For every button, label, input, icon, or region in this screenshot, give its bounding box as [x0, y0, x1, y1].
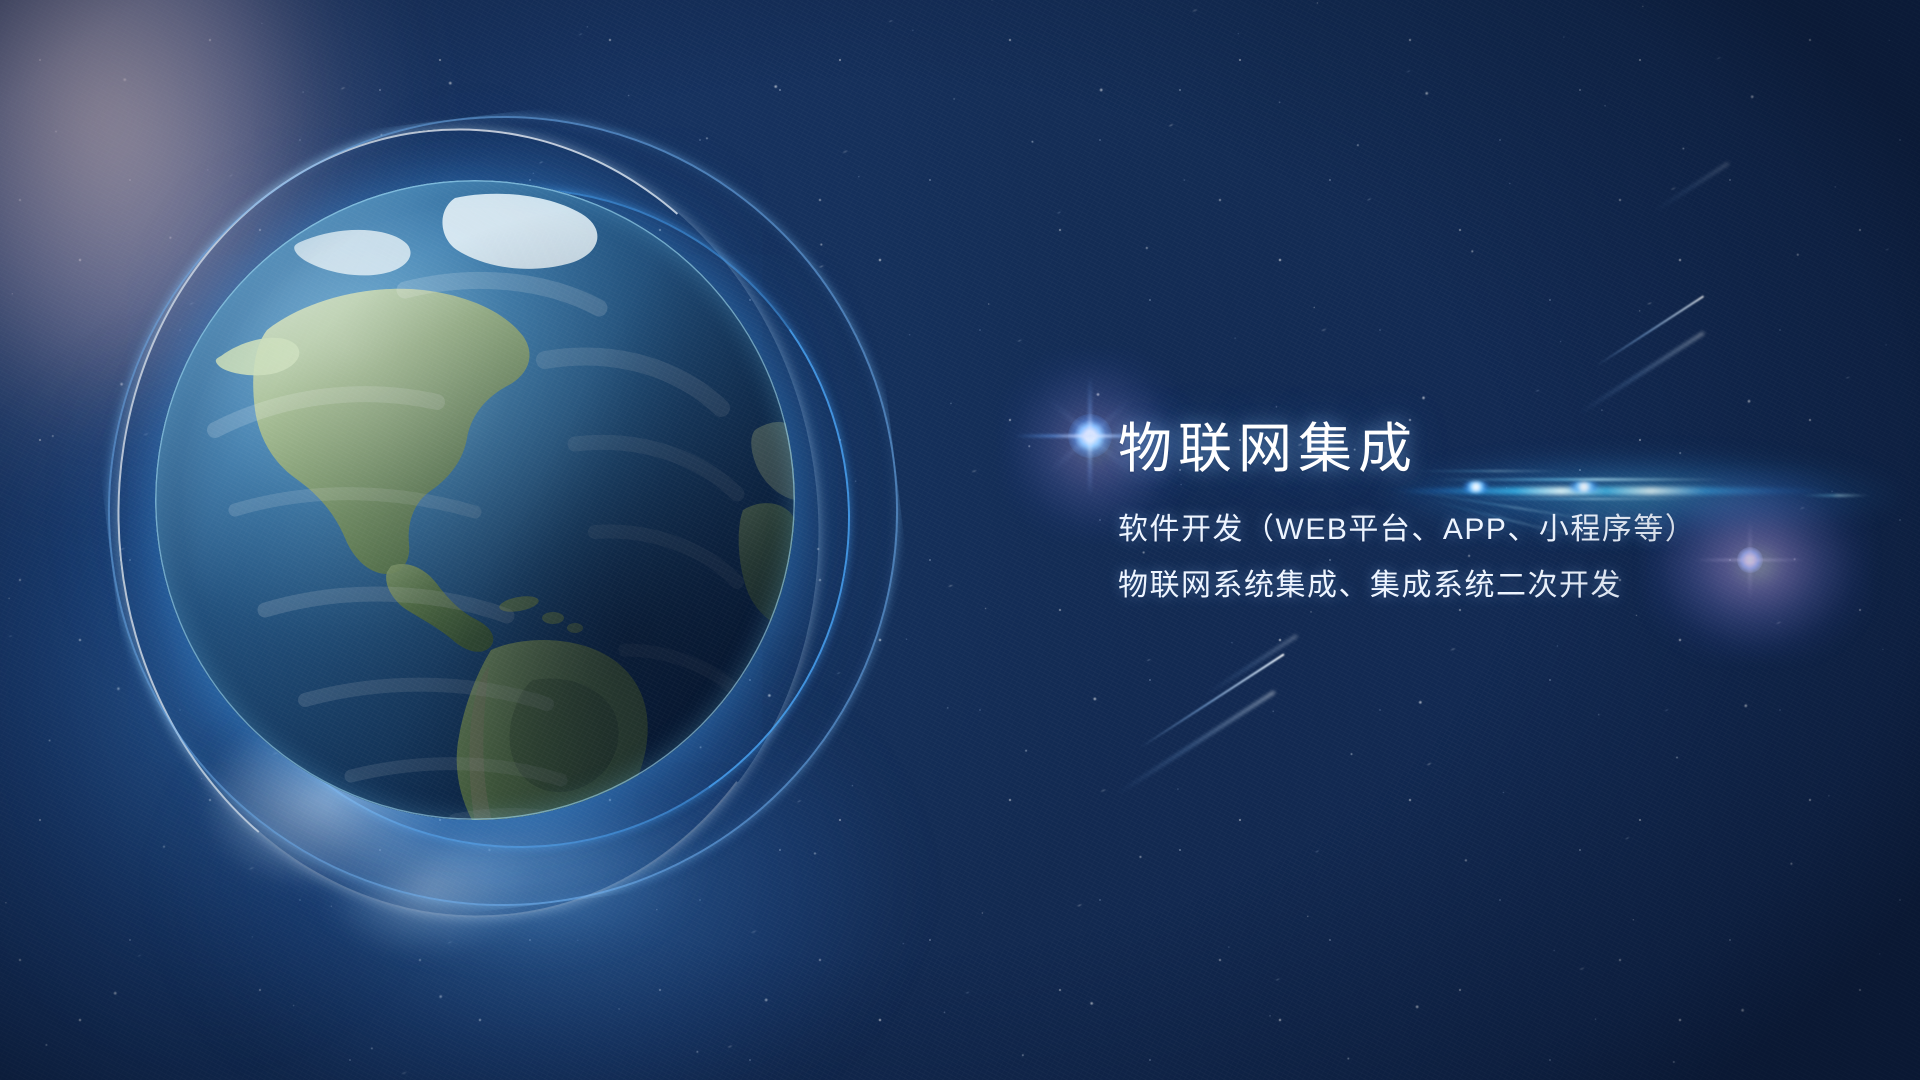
globe-continents-icon: [155, 180, 795, 820]
meteor-trail-4: [1115, 691, 1276, 797]
subtitle-line-2: 物联网系统集成、集成系统二次开发: [1118, 560, 1858, 612]
earth-globe: [155, 180, 795, 820]
meteor-trail-2: [1577, 331, 1704, 415]
page-title: 物联网集成: [1118, 418, 1858, 480]
globe-sphere: [155, 180, 795, 820]
meteor-trail-3: [1139, 653, 1284, 748]
hero-banner: 物联网集成 软件开发（WEB平台、APP、小程序等） 物联网系统集成、集成系统二…: [0, 0, 1920, 1080]
hero-copy: 物联网集成 软件开发（WEB平台、APP、小程序等） 物联网系统集成、集成系统二…: [1118, 418, 1858, 612]
meteor-trail-5: [1204, 634, 1298, 696]
meteor-trail-1: [1596, 295, 1704, 366]
subtitle-line-1: 软件开发（WEB平台、APP、小程序等）: [1118, 504, 1858, 556]
meteor-trail-6: [1652, 162, 1729, 214]
